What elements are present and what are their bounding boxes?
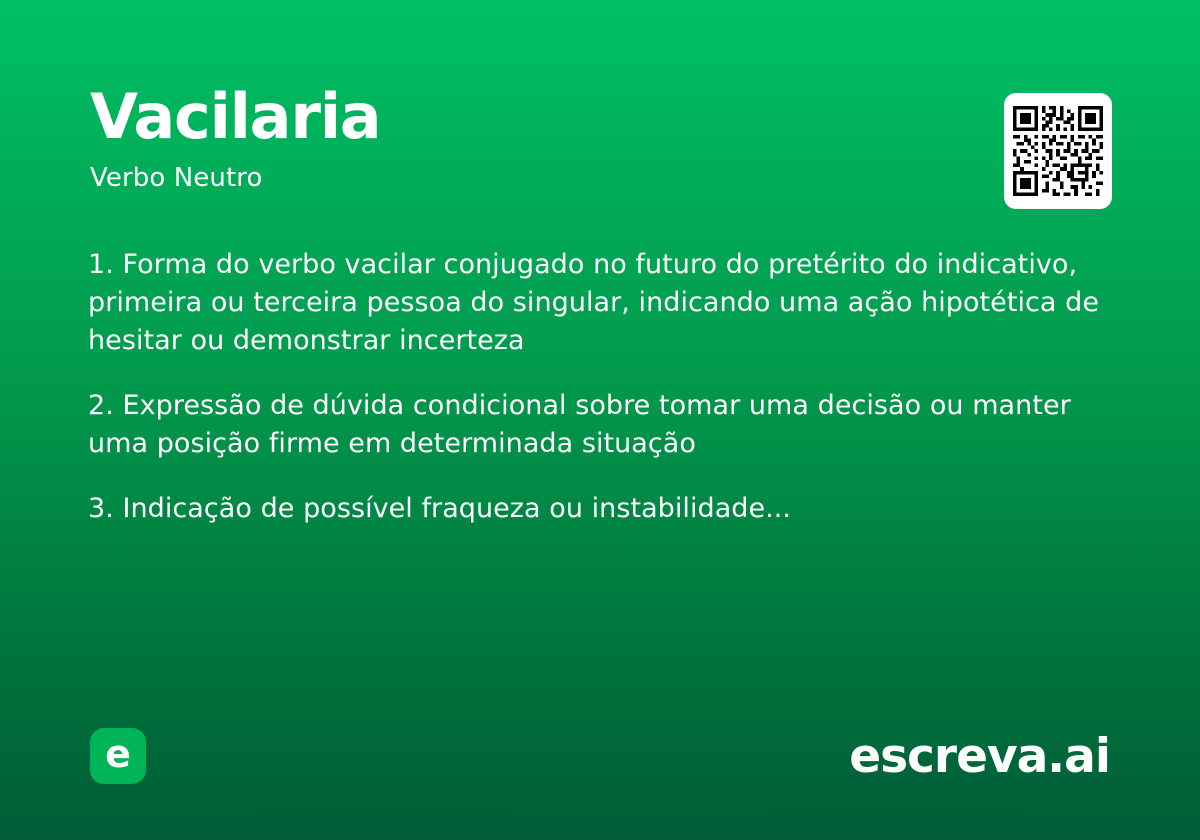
definition-item: 1. Forma do verbo vacilar conjugado no f…: [88, 246, 1108, 360]
card-footer: e escreva.ai: [0, 728, 1200, 784]
escreva-logo-icon[interactable]: e: [90, 728, 146, 784]
page-title: Vacilaria: [90, 86, 950, 148]
definition-card: Vacilaria Verbo Neutro: [0, 0, 1200, 840]
definition-item: 3. Indicação de possível fraqueza ou ins…: [88, 490, 1108, 528]
qr-code-icon: [1013, 106, 1103, 196]
brand-wordmark[interactable]: escreva.ai: [849, 733, 1110, 780]
word-class-label: Verbo Neutro: [90, 164, 950, 193]
definitions-list: 1. Forma do verbo vacilar conjugado no f…: [88, 246, 1108, 528]
card-header: Vacilaria Verbo Neutro: [90, 86, 950, 193]
qr-code[interactable]: [1004, 93, 1112, 209]
definition-item: 2. Expressão de dúvida condicional sobre…: [88, 387, 1108, 463]
